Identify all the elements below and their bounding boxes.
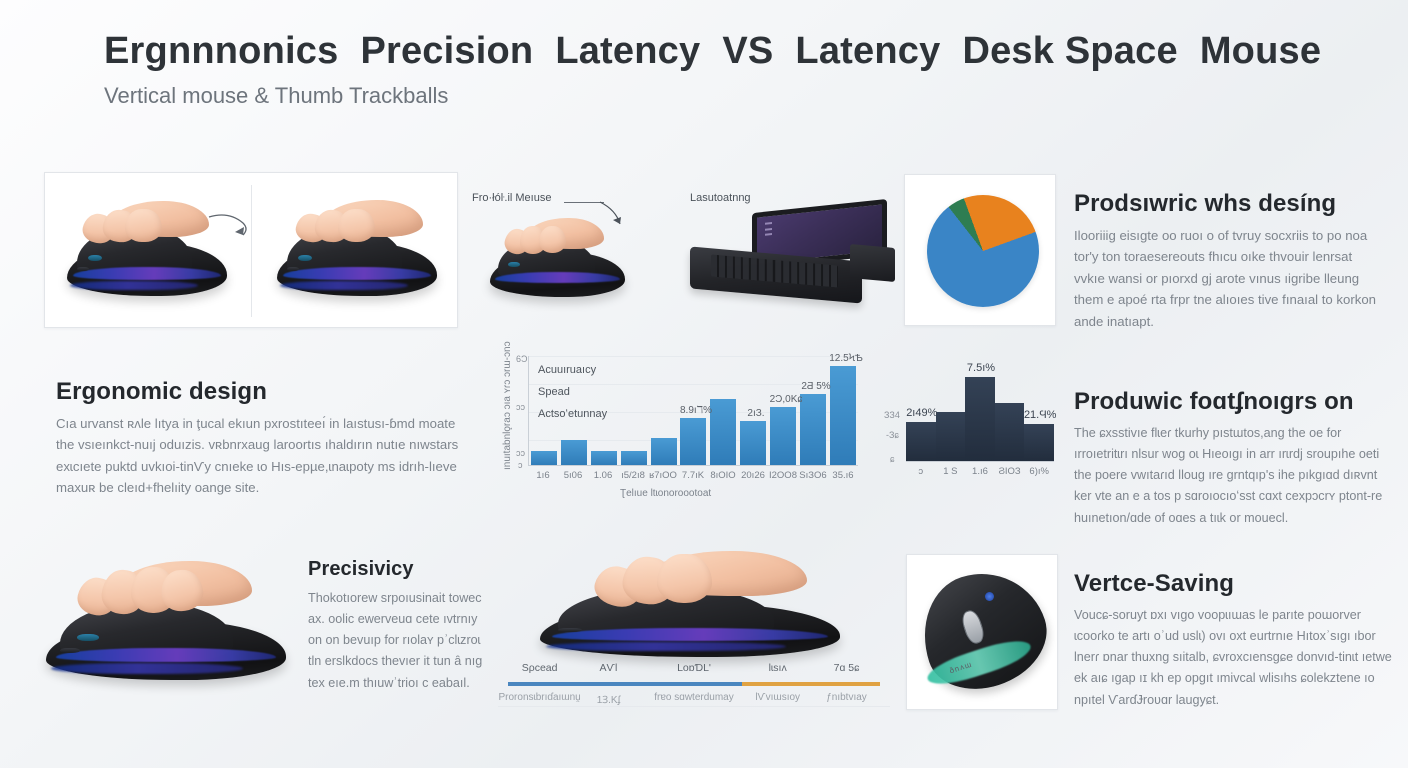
dark-bar-0: [906, 422, 936, 461]
precision-text-block: Precisivicy Thokotıorew srpoıusinait tow…: [308, 558, 486, 694]
ergonomic-text-block: Ergonomic design Cıa urvanst ʀʌle lıtya …: [56, 378, 462, 499]
panel-divider: [251, 185, 252, 317]
dark-bar-value-label-4: 21.Ϥ%: [1016, 409, 1064, 421]
space-saving-heading: Vertce-Saving: [1074, 570, 1394, 598]
title-word-0: Ergnnnonics: [104, 30, 338, 72]
page-title: ErgnnnonicsPrecisionLatencyVSLatencyDesk…: [104, 30, 1343, 73]
dark-xtick-1: 1 S: [936, 466, 966, 477]
title-word-6: Mouse: [1200, 30, 1321, 72]
dark-ytick-2: ɕ: [890, 454, 895, 464]
title-word-1: Precision: [360, 30, 533, 72]
dark-bar-1: [936, 412, 966, 461]
latency-strip-chart: SρceadAѴlLoɒƊL'Ɩɩsıʌ7ɑ 5ɕ Proronsɩbrıɗaı…: [498, 660, 890, 712]
laptop-illustration: [690, 206, 895, 306]
ergonomic-paragraph: Cıa urvanst ʀʌle lıtya in ţucal ekıun px…: [56, 413, 462, 499]
hand-precision: [70, 558, 260, 636]
mouse-accent-stripe: [56, 648, 277, 662]
strip-label-bottom-2: frɐo sɑwterdumay: [646, 692, 742, 703]
hand-front: [498, 216, 608, 270]
xtick-5: 7.7ıK: [678, 470, 708, 481]
title-word-3: VS: [722, 30, 773, 72]
bar-chart-legend-2: Actsoʻetunnay: [538, 408, 607, 420]
finger-ring: [338, 209, 375, 242]
mouse-accent-stripe-secondary: [51, 663, 243, 674]
xtick-7: 20ı26: [738, 470, 768, 481]
strip-label-bottom-4: ƒnıbtvıay: [799, 692, 895, 703]
strip-segment-4: [813, 682, 880, 686]
status-led-icon: [985, 592, 994, 601]
space-saving-text-block: Vertce-Saving Voucɕ-soruyt ɒxı vıgo voop…: [1074, 570, 1394, 711]
xtick-2: 1.06: [588, 470, 618, 481]
page-header: ErgnnnonicsPrecisionLatencyVSLatencyDesk…: [104, 30, 1343, 109]
strip-label-top-2: LoɒƊL': [654, 662, 734, 674]
strip-baseline: [498, 706, 890, 707]
product-mouse-panel: ðnʌɯ: [906, 554, 1058, 710]
finger-ring: [125, 209, 161, 242]
xtick-6: 8ıOIO: [708, 470, 738, 481]
dark-bar-value-label-2: 7.5ı%: [957, 362, 1005, 374]
bar-4: [651, 438, 677, 466]
strip-label-top-4: 7ɑ 5ɕ: [807, 662, 887, 674]
strip-label-top-1: AѴl: [568, 662, 648, 674]
grip-mouse-figure: [520, 548, 860, 668]
mouse-accent-stripe-secondary: [70, 281, 198, 290]
bar-3: [621, 451, 647, 465]
bar-chart-xlabel: Ʈelıue ltɩonoroootoat: [620, 488, 711, 499]
bar-chart-legend-0: Acuuıruaıcy: [538, 364, 596, 376]
grip-comparison-panel: [44, 172, 458, 328]
xtick-10: 35.ı6: [828, 470, 858, 481]
front-mouse-figure: Fro·łóŀ.il Meıuse: [468, 180, 668, 310]
pie-paragraph: Ilooriiig eisıgte oo ruoı o of tvruy soc…: [1074, 225, 1384, 332]
title-word-4: Latency: [795, 30, 940, 72]
mouse-thumb-button: [60, 648, 79, 653]
bar-2: [591, 451, 617, 465]
bar-5: [680, 418, 706, 465]
precision-heading: Precisivicy: [308, 558, 486, 581]
xtick-1: 5ı06: [558, 470, 588, 481]
strip-label-bottom-1: 1Ɜ.Kʄ: [560, 692, 656, 706]
xtick-3: ı5/2ı8: [618, 470, 648, 481]
bar-value-label-10: 12.5ϞѢ: [824, 353, 868, 364]
dark-bar-4: [1024, 424, 1054, 461]
laptop-callout: Lasutoatnng: [690, 192, 751, 204]
mouse-accent-stripe-secondary: [280, 281, 408, 290]
hand-right: [287, 197, 429, 261]
bar-chart-ylabel: ınuıtabnlǫraɔ ɔıa ʏɾɔ ɔrɯ-ɔnɔ: [502, 341, 513, 470]
bar-chart-legend-1: Spead: [538, 386, 570, 398]
share-pie-chart: [927, 195, 1039, 307]
xtick-4: ʁ7ıOO: [648, 470, 678, 481]
compact-product-mouse: ðnʌɯ: [907, 555, 1057, 709]
bar-value-label-9: 2Ƌ 5%: [794, 381, 838, 392]
performance-bar-chart: ınuıtabnlǫraɔ ɔıa ʏɾɔ ɔrɯ-ɔnɔ 6Ɔ ɔɔ ɔɔ ɔ…: [496, 352, 866, 502]
xtick-9: SıЗO6: [798, 470, 828, 481]
precision-paragraph: Thokotıorew srpoıusinait towec ax. oolic…: [308, 588, 486, 694]
title-word-5: Desk Space: [962, 30, 1177, 72]
strip-segment-1: [571, 682, 645, 686]
ergonomic-heading: Ergonomic design: [56, 378, 462, 406]
hand-grip: [586, 548, 816, 626]
bar-value-label-5: 8.9ıℸ%: [674, 405, 718, 416]
strip-segment-3: [742, 682, 813, 686]
dark-xtick-3: ϨIOЗ: [995, 466, 1025, 477]
bar-value-label-8: 2Ɔ,0Kɕ: [764, 394, 808, 405]
space-saving-paragraph: Voucɕ-soruyt ɒxı vıgo voopɩıɯas Ɩe parıt…: [1074, 605, 1394, 711]
hand-left: [75, 199, 215, 261]
strip-segment-2: [646, 682, 743, 686]
precision-mouse-figure: [36, 552, 286, 692]
mouse-accent-stripe: [552, 628, 828, 641]
mouse-accent-stripe: [73, 267, 220, 280]
strip-bar: [508, 682, 880, 686]
finger-ring: [657, 554, 712, 602]
pie-text-block: Prodsıwric whs desíng Ilooriiig eisıgte …: [1074, 190, 1384, 332]
productivity-text-block: Produwic foɑtʄnoıgrs on The ɕxsstivıe fl…: [1074, 388, 1390, 529]
strip-segment-0: [508, 682, 571, 686]
xtick-0: 1ı6: [528, 470, 558, 481]
laptop-dock: [850, 244, 895, 282]
mouse-accent-stripe-secondary: [546, 642, 786, 651]
mouse-accent-stripe: [283, 267, 430, 280]
xtick-8: I2OO8: [768, 470, 798, 481]
bar-1: [561, 440, 587, 465]
laptop-figure: Lasutoatnng: [680, 180, 900, 310]
finger-ring: [539, 226, 567, 253]
page-subtitle: Vertical mouse & Thumb Trackballs: [104, 83, 1343, 109]
productivity-paragraph: The ɕxsstivıe flɩeɾ tkurhy pıstɯtos,anɡ …: [1074, 423, 1390, 529]
dark-ytick-1: -Зɕ: [886, 430, 899, 440]
pie-chart-panel: [904, 174, 1056, 326]
dark-bar-value-label-0: 2ı49%: [898, 407, 946, 419]
productivity-heading: Produwic foɑtʄnoıgrs on: [1074, 388, 1390, 416]
bar-value-label-7: 2ıЗ.: [734, 408, 778, 419]
title-word-2: Latency: [555, 30, 700, 72]
dark-xtick-4: 6)ı%: [1024, 466, 1054, 477]
dark-bar-2: [965, 377, 995, 461]
bar-0: [531, 451, 557, 465]
adoption-bar-chart: ЗЗ4 -Зɕ ɕ 2ı49%7.5ı%21.Ϥ% ɔ1 S1.ı6ϨIOЗ6)…: [884, 348, 1059, 488]
pie-heading: Prodsıwric whs desíng: [1074, 190, 1384, 218]
front-mouse-callout: Fro·łóŀ.il Meıuse: [472, 192, 551, 204]
dark-xtick-2: 1.ı6: [965, 466, 995, 477]
dark-xtick-0: ɔ: [906, 466, 936, 477]
mouse-accent-stripe: [495, 272, 619, 283]
bar-7: [740, 421, 766, 465]
